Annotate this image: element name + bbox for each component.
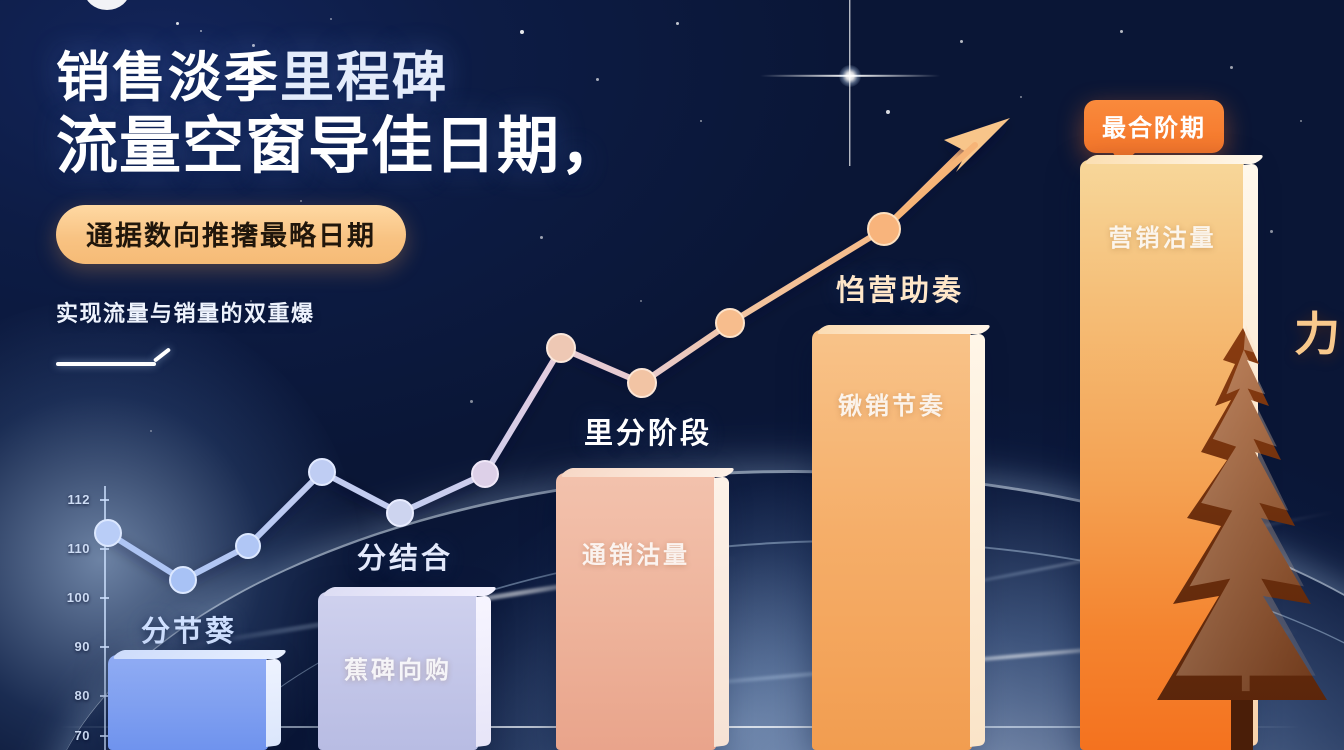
subtitle-pill-badge: 通据数向推撦最略日期	[56, 205, 406, 264]
bar-face	[1080, 160, 1245, 750]
y-tick-mark	[100, 548, 109, 550]
y-tick-label: 110	[56, 541, 90, 556]
bar-3[interactable]: 通销沽量	[556, 473, 716, 750]
y-tick-label: 112	[56, 492, 90, 507]
bar-cap	[321, 587, 498, 596]
bar-face	[556, 473, 716, 750]
decorative-rule	[56, 362, 156, 366]
floating-glyph: 力	[1294, 298, 1340, 364]
headline-block: 销售淡季里程碑 流量空窗导佳日期， 通据数向推撦最略日期 实现流量与销量的双重爆	[56, 48, 816, 366]
bar-title-2: 分结合	[320, 535, 490, 577]
bar-cap	[815, 325, 992, 334]
headline-line-2: 流量空窗导佳日期，	[56, 112, 816, 183]
y-tick-label: 80	[56, 688, 90, 703]
bar-side	[1243, 163, 1258, 747]
bar-side	[970, 333, 985, 747]
bar-title-4: 㤘营助奏	[800, 267, 1000, 309]
headline-soft: 里程碑	[280, 48, 448, 108]
subtitle-text: 实现流量与销量的双重爆	[56, 296, 816, 328]
y-tick-mark	[100, 499, 109, 501]
bar-2[interactable]: 蕉碑向购	[318, 592, 478, 750]
bar-face	[108, 655, 268, 750]
best-phase-badge[interactable]: 最合阶期	[1084, 100, 1224, 153]
bar-cap	[559, 468, 736, 477]
y-tick-label: 100	[56, 590, 90, 605]
bar-title-1: 分节葵	[104, 608, 274, 650]
bar-face	[812, 330, 972, 750]
bar-side	[714, 476, 729, 747]
bar-4[interactable]: 锹销节奏	[812, 330, 972, 750]
headline-strong: 销售淡季	[56, 48, 280, 108]
y-tick-label: 90	[56, 639, 90, 654]
bar-side	[266, 658, 281, 747]
bar-title-3: 里分阶段	[548, 410, 748, 452]
bar-1[interactable]	[108, 655, 268, 750]
y-tick-label: 70	[56, 728, 90, 743]
bar-face	[318, 592, 478, 750]
bar-side	[476, 595, 491, 747]
y-tick-mark	[100, 597, 109, 599]
poster-canvas: 销售淡季里程碑 流量空窗导佳日期， 通据数向推撦最略日期 实现流量与销量的双重爆…	[0, 0, 1344, 750]
bar-cap	[1083, 155, 1265, 164]
bar-cap	[111, 650, 288, 659]
headline-line-1: 销售淡季里程碑	[56, 48, 816, 108]
bar-5[interactable]: 营销沽量	[1080, 160, 1245, 750]
